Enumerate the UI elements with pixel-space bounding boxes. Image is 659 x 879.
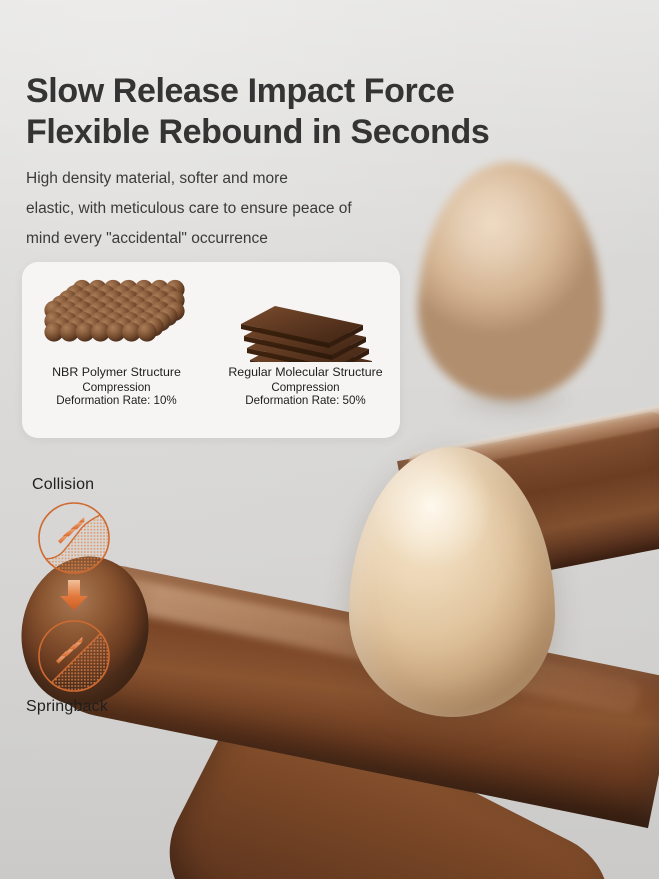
subcopy-line-1: High density material, softer and more: [26, 164, 426, 194]
subcopy-line-3: mind every "accidental" occurrence: [26, 224, 426, 254]
plate-stack-icon: [223, 276, 388, 362]
lattice-sphere: [137, 322, 156, 341]
plate-stack-svg: [223, 276, 388, 362]
subheading-copy: High density material, softer and more e…: [26, 164, 426, 254]
sphere-lattice-svg: [34, 276, 199, 362]
headline-line-1: Slow Release Impact Force: [26, 72, 454, 110]
nbr-caption: NBR Polymer Structure Compression Deform…: [52, 366, 181, 408]
headline-line-2: Flexible Rebound in Seconds: [26, 112, 586, 153]
dent-fill: [38, 510, 112, 576]
subcopy-line-2: elastic, with meticulous care to ensure …: [26, 194, 426, 224]
blurred-egg: [418, 162, 602, 400]
comparison-column-regular: Regular Molecular Structure Compression …: [211, 262, 400, 438]
restored-circle-icon: [36, 618, 112, 694]
springback-label: Springback: [26, 698, 160, 716]
regular-title: Regular Molecular Structure: [228, 366, 382, 380]
restored-circle-svg: [36, 618, 112, 694]
impact-diagram: Collision: [24, 476, 160, 716]
nbr-metric-value: Deformation Rate: 10%: [52, 394, 181, 408]
comparison-column-nbr: NBR Polymer Structure Compression Deform…: [22, 262, 211, 438]
regular-caption: Regular Molecular Structure Compression …: [228, 366, 382, 408]
collision-label: Collision: [32, 476, 160, 494]
nbr-title: NBR Polymer Structure: [52, 366, 181, 380]
page-title: Slow Release Impact Force Flexible Rebou…: [26, 71, 586, 153]
dented-circle-svg: [36, 500, 112, 576]
down-arrow-icon: [36, 576, 112, 612]
regular-metric-value: Deformation Rate: 50%: [228, 394, 382, 408]
product-feature-page: Slow Release Impact Force Flexible Rebou…: [0, 0, 659, 879]
regular-metric-label: Compression: [228, 381, 382, 395]
sphere-lattice-icon: [34, 276, 199, 362]
dented-circle-icon: [36, 500, 112, 576]
structure-comparison-card: NBR Polymer Structure Compression Deform…: [22, 262, 400, 438]
nbr-metric-label: Compression: [52, 381, 181, 395]
